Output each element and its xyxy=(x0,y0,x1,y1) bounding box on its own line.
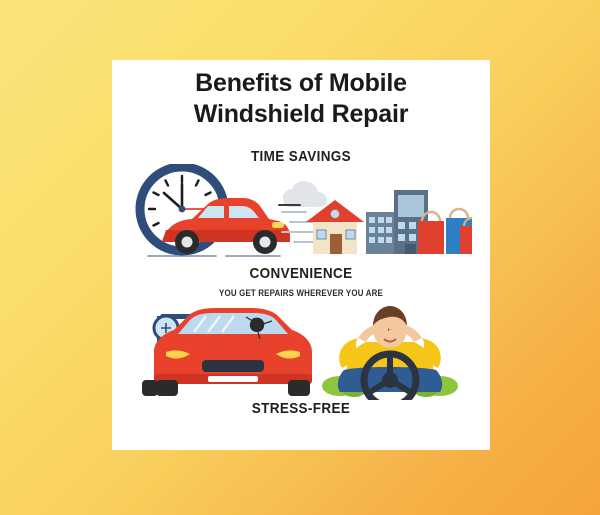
section-heading-time-savings: TIME SAVINGS xyxy=(131,148,471,165)
page-title-line-2: Windshield Repair xyxy=(112,99,490,130)
page-title: Benefits of Mobile Windshield Repair xyxy=(112,68,490,130)
windshield-chip-icon xyxy=(250,318,264,332)
cloud-icon xyxy=(283,181,327,207)
relaxed-driver-icon xyxy=(338,306,442,400)
infographic-card: Benefits of Mobile Windshield Repair TIM… xyxy=(112,60,490,450)
page-title-line-1: Benefits of Mobile xyxy=(112,68,490,99)
house-icon xyxy=(306,200,364,254)
infographic-canvas: Benefits of Mobile Windshield Repair TIM… xyxy=(0,0,600,515)
section-heading-convenience: CONVENIENCE xyxy=(131,265,471,282)
section-heading-stress-free: STRESS-FREE xyxy=(131,400,471,417)
convenience-illustration xyxy=(140,296,462,400)
time-savings-illustration xyxy=(130,164,472,268)
